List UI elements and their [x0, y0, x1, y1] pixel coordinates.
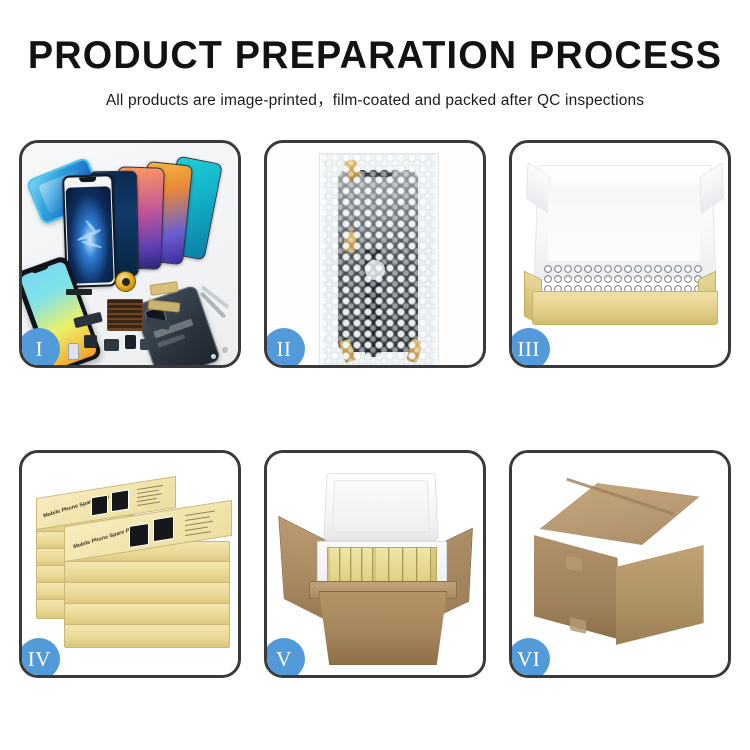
carton-tape-patch	[570, 617, 586, 633]
step-badge-2: II	[264, 328, 305, 368]
box-screen-image	[153, 516, 174, 542]
stacked-box	[64, 582, 230, 605]
header: PRODUCT PREPARATION PROCESS All products…	[0, 0, 750, 110]
box-interior	[548, 185, 700, 261]
carton-body	[319, 591, 447, 665]
packed-box	[390, 548, 403, 582]
box-spec-line	[137, 493, 162, 498]
step-panel-4: Mobile Phone Spare Parts Mobile Phone Sp…	[19, 450, 241, 678]
packed-box	[418, 548, 431, 582]
step-badge-label-1: I	[36, 339, 44, 360]
process-grid: I	[0, 138, 750, 680]
step-badge-3: III	[509, 328, 550, 368]
step-panel-2: II	[264, 140, 486, 368]
infographic-page: PRODUCT PREPARATION PROCESS All products…	[0, 0, 750, 750]
screen-glow	[66, 186, 114, 284]
step-panel-5: V	[264, 450, 486, 678]
step-badge-label-2: II	[276, 339, 291, 360]
step-badge-1: I	[19, 328, 60, 368]
bubble-wrap-bag-icon	[319, 153, 439, 365]
process-step-2: II	[253, 138, 498, 370]
box-spec-line	[185, 510, 215, 516]
speaker-coil-icon	[115, 271, 136, 292]
box-spec-line	[137, 501, 160, 506]
stacked-box	[64, 603, 230, 626]
glow-streak	[81, 240, 103, 249]
stacked-box	[64, 624, 230, 648]
box-spec-line	[185, 526, 208, 531]
carton-top-face	[540, 483, 700, 545]
packed-box	[404, 548, 417, 582]
component-chip-icon	[125, 335, 136, 349]
component-chip-icon	[140, 339, 150, 350]
step-badge-label-3: III	[517, 339, 539, 360]
process-step-6: VI	[497, 448, 742, 680]
sim-tray-icon	[68, 343, 79, 360]
step-image-4: Mobile Phone Spare Parts Mobile Phone Sp…	[22, 453, 238, 675]
packed-box	[352, 548, 362, 582]
box-screen-image	[129, 523, 149, 548]
packed-box	[376, 548, 389, 582]
bag-seam	[432, 154, 438, 365]
packed-boxes-group	[327, 547, 437, 583]
foam-box-lid-icon	[323, 473, 438, 541]
process-step-1: I	[8, 138, 253, 370]
page-title: PRODUCT PREPARATION PROCESS	[11, 36, 739, 77]
step-image-5	[267, 453, 483, 675]
step-badge-label-6: VI	[517, 649, 540, 670]
box-spec-line	[137, 485, 163, 491]
box-front-panel	[532, 291, 718, 325]
process-step-4: Mobile Phone Spare Parts Mobile Phone Sp…	[8, 448, 253, 680]
packed-box	[341, 548, 351, 582]
chip-array-icon	[107, 299, 143, 331]
box-spec-line	[185, 531, 211, 537]
step-badge-label-4: IV	[28, 649, 51, 670]
process-step-3: III	[497, 138, 742, 370]
component-chip-icon	[84, 335, 97, 348]
packed-box	[363, 548, 373, 582]
process-step-5: V	[253, 448, 498, 680]
step-badge-4: IV	[19, 638, 60, 678]
step-image-3	[512, 143, 728, 365]
step-badge-6: VI	[509, 638, 550, 678]
carton-right-face	[616, 545, 704, 645]
box-screen-image	[111, 489, 129, 512]
page-subtitle: All products are image-printed，film-coat…	[0, 88, 750, 110]
component-chip-icon	[104, 339, 119, 351]
phone-fan-group	[64, 159, 234, 279]
step-badge-5: V	[264, 638, 305, 678]
bubble-texture	[320, 154, 438, 365]
step-badge-label-5: V	[276, 649, 292, 670]
packed-box	[330, 548, 340, 582]
stacked-box	[64, 561, 230, 584]
box-stack-group: Mobile Phone Spare Parts Mobile Phone Sp…	[30, 471, 236, 669]
step-image-1	[22, 143, 238, 365]
step-image-2	[267, 143, 483, 365]
step-image-6	[512, 453, 728, 675]
box-screen-image	[91, 495, 108, 517]
step-panel-3: III	[509, 140, 731, 368]
step-panel-1: I	[19, 140, 241, 368]
tweezers-icon	[190, 295, 236, 353]
step-panel-6: VI	[509, 450, 731, 678]
bag-seam	[320, 154, 326, 365]
box-spec-line	[185, 521, 213, 527]
part-bar-icon	[66, 289, 92, 295]
